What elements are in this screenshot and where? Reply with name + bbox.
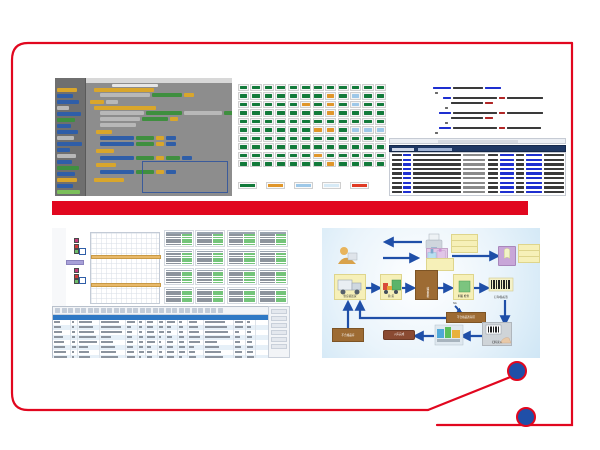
planner-action-button[interactable] [271,344,287,349]
status-cell[interactable] [375,152,386,159]
table-cell-text [159,331,164,333]
table-toolbar-icon[interactable] [133,308,138,313]
console-log-token [413,154,461,156]
table-toolbar-icon[interactable] [120,308,125,313]
status-cell[interactable] [250,84,261,91]
status-cell[interactable] [362,135,373,142]
card-field-label [260,296,275,298]
table-toolbar-icon[interactable] [101,308,106,313]
status-cell[interactable] [375,92,386,99]
planner-info-card[interactable] [227,287,257,304]
status-cell[interactable] [338,126,349,133]
status-cell[interactable] [300,118,311,125]
status-cell[interactable] [375,143,386,150]
table-toolbar-icon[interactable] [153,308,158,313]
table-cell[interactable] [204,355,234,358]
status-cell-fill [327,137,334,141]
planner-gantt-grid[interactable] [90,232,160,304]
table-toolbar-icon[interactable] [159,308,164,313]
planner-action-button[interactable] [271,316,287,321]
status-cell[interactable] [288,109,299,116]
table-cell-text [54,331,62,333]
status-cell[interactable] [288,143,299,150]
status-cell[interactable] [275,135,286,142]
table-toolbar-icon[interactable] [68,308,73,313]
screenshot-production-planner[interactable] [52,228,290,358]
card-field-label [260,260,275,262]
card-field-label [260,274,275,276]
status-cell[interactable] [263,92,274,99]
planner-info-card[interactable] [258,249,288,266]
status-cell[interactable] [362,160,373,167]
card-field-row [229,277,255,279]
console-log-token [488,182,498,184]
card-field-value [182,282,192,284]
status-cell[interactable] [300,143,311,150]
table-toolbar[interactable] [53,307,289,315]
workflow-node-erp-archive[interactable] [498,246,516,266]
status-cell[interactable] [350,109,361,116]
card-field-row [166,258,192,260]
table-toolbar-icon[interactable] [179,308,184,313]
status-cell[interactable] [250,135,261,142]
status-cell[interactable] [313,92,324,99]
status-cell[interactable] [288,160,299,167]
status-cell[interactable] [275,160,286,167]
table-toolbar-icon[interactable] [127,308,132,313]
table-cell-text [147,326,153,328]
card-field-value [244,300,254,302]
gantt-group-label[interactable] [66,260,84,265]
blocks-editor-palette[interactable] [55,78,86,196]
workflow-node-receiving-doc[interactable]: 收货单据 [415,270,438,300]
status-cell[interactable] [275,84,286,91]
card-field-value [182,258,192,260]
table-toolbar-icon[interactable] [55,308,60,313]
table-toolbar-icon[interactable] [88,308,93,313]
status-cell[interactable] [313,109,324,116]
table-toolbar-icon[interactable] [192,308,197,313]
status-cell[interactable] [338,92,349,99]
status-cell[interactable] [250,101,261,108]
table-cell[interactable] [100,355,126,358]
status-cell-fill [339,128,346,132]
status-cell-fill [364,111,371,115]
card-field-value [182,260,192,262]
status-cell[interactable] [338,135,349,142]
console-log-token [392,172,402,174]
card-field-label [260,298,275,300]
card-field-label [229,234,244,236]
workflow-node-label: 打印/贴标签 [494,297,508,300]
card-field-label [166,256,181,258]
planner-data-table[interactable] [52,306,290,358]
screenshot-ide-code-console[interactable] [389,84,566,196]
status-cell[interactable] [300,160,311,167]
status-cell-fill [339,86,346,90]
status-cell[interactable] [325,160,336,167]
table-cell-text [159,321,163,323]
status-cell[interactable] [350,84,361,91]
card-field-label [166,296,181,298]
status-cell[interactable] [263,84,274,91]
card-field-value [276,244,286,246]
screenshot-blocks-editor[interactable] [55,78,232,196]
status-cell[interactable] [325,84,336,91]
status-cell[interactable] [288,126,299,133]
status-cell-fill [314,145,321,149]
blocks-editor-canvas[interactable] [86,83,232,196]
card-header [197,232,223,234]
status-cell[interactable] [313,101,324,108]
table-cell[interactable] [78,355,100,358]
status-cell[interactable] [350,126,361,133]
workflow-node-supplier-delivery[interactable]: 供应商送货 [334,274,366,300]
console-log-token [403,159,411,161]
status-cell-fill [240,128,247,132]
table-cell[interactable] [246,355,256,358]
red-divider-bar [52,201,528,215]
status-cell[interactable] [375,160,386,167]
table-toolbar-icon[interactable] [81,308,86,313]
workflow-node-label-print[interactable]: 打印/贴标签 [488,274,514,300]
workflow-node-reject-store[interactable]: 不合格品库 [332,328,364,342]
status-cell[interactable] [288,118,299,125]
table-toolbar-icon[interactable] [75,308,80,313]
table-cell[interactable] [158,355,166,358]
table-toolbar-icon[interactable] [218,308,223,313]
planner-info-cards[interactable] [164,230,288,304]
status-cell[interactable] [300,152,311,159]
status-cell[interactable] [325,101,336,108]
table-cell[interactable] [138,355,146,358]
status-cell[interactable] [350,101,361,108]
status-cell[interactable] [300,84,311,91]
status-cell[interactable] [338,109,349,116]
console-log-list[interactable] [389,152,566,196]
console-log-token [500,186,514,188]
status-cell[interactable] [300,135,311,142]
gantt-node-selected[interactable] [79,277,86,284]
card-field-value [276,241,286,243]
console-log-token [403,168,411,170]
planner-action-buttons[interactable] [268,306,290,358]
ide-toolbar[interactable] [389,138,566,144]
planner-info-card[interactable] [164,249,194,266]
table-cell-text [101,356,118,358]
status-cell[interactable] [338,118,349,125]
status-cell[interactable] [300,92,311,99]
planner-info-card[interactable] [227,249,257,266]
status-cell[interactable] [238,135,249,142]
status-cell[interactable] [263,126,274,133]
card-field-label [229,298,244,300]
planner-upper-area[interactable] [52,228,290,306]
card-field-row [197,237,223,239]
status-cell[interactable] [288,92,299,99]
table-cell-text [139,321,142,323]
gantt-node-selected[interactable] [79,248,86,255]
console-log-token [413,159,461,161]
card-field-row [260,253,286,255]
workflow-node-label: 料箱 检查 [458,296,469,299]
status-cell[interactable] [325,118,336,125]
console-log-token [463,182,485,184]
table-toolbar-icon[interactable] [146,308,151,313]
status-cell[interactable] [362,109,373,116]
status-cell[interactable] [263,118,274,125]
planner-info-card[interactable] [227,268,257,285]
workflow-node-inbound-done[interactable]: 入库完成 [383,330,415,340]
table-cell-text [139,356,141,358]
status-cell[interactable] [313,84,324,91]
console-log-row[interactable] [390,190,565,195]
table-toolbar-icon[interactable] [166,308,171,313]
card-header [229,270,255,272]
table-cell[interactable] [71,355,78,358]
status-cell[interactable] [275,109,286,116]
table-cell[interactable] [234,355,246,358]
status-cell[interactable] [250,118,261,125]
card-field-value [276,260,286,262]
status-grid-cells[interactable] [238,84,386,167]
gantt-node-marker[interactable] [74,268,79,273]
status-cell[interactable] [325,109,336,116]
table-cell-text [79,356,90,358]
screenshot-status-grid[interactable] [236,82,388,199]
workflow-node-quality-check[interactable]: 料箱 检查 [453,274,474,300]
status-cell[interactable] [325,135,336,142]
status-cell-fill [265,94,272,98]
status-cell[interactable] [350,143,361,150]
workflow-node-inspection[interactable]: 验 货 [380,274,402,300]
status-cell[interactable] [338,84,349,91]
planner-info-card[interactable] [227,230,257,247]
card-field-value [213,241,223,243]
table-toolbar-icon[interactable] [62,308,67,313]
table-cell[interactable] [146,355,158,358]
status-cell[interactable] [238,92,249,99]
table-body[interactable] [53,320,289,358]
status-cell[interactable] [338,101,349,108]
table-cell[interactable] [53,355,71,358]
planner-info-card[interactable] [258,287,288,304]
status-cell[interactable] [275,126,286,133]
status-cell[interactable] [362,84,373,91]
status-cell-fill [339,154,346,158]
status-cell[interactable] [362,143,373,150]
table-row[interactable] [53,355,289,358]
status-cell-fill [314,86,321,90]
code-editor-area[interactable] [389,84,566,136]
table-toolbar-icon[interactable] [211,308,216,313]
planner-info-card[interactable] [164,230,194,247]
card-field-row [197,234,223,236]
card-field-label [197,260,212,262]
table-toolbar-icon[interactable] [205,308,210,313]
status-cell[interactable] [238,118,249,125]
status-cell[interactable] [350,118,361,125]
table-toolbar-icon[interactable] [114,308,119,313]
status-cell[interactable] [275,118,286,125]
status-cell[interactable] [263,160,274,167]
status-cell[interactable] [250,152,261,159]
status-cell[interactable] [250,160,261,167]
planner-action-button[interactable] [271,337,287,342]
status-cell-fill [364,94,371,98]
decorative-red-frame [0,0,600,450]
status-cell[interactable] [275,143,286,150]
status-cell[interactable] [375,109,386,116]
status-cell[interactable] [375,101,386,108]
status-cell[interactable] [313,135,324,142]
table-cell[interactable] [166,355,178,358]
status-cell[interactable] [250,92,261,99]
status-cell[interactable] [238,160,249,167]
planner-action-button[interactable] [271,323,287,328]
status-cell-fill [339,111,346,115]
status-cell[interactable] [313,143,324,150]
status-cell[interactable] [338,143,349,150]
planner-info-card[interactable] [164,287,194,304]
planner-info-card[interactable] [258,230,288,247]
status-cell[interactable] [263,143,274,150]
planner-sidebar[interactable] [52,228,66,306]
planner-action-button[interactable] [271,309,287,314]
status-cell[interactable] [313,152,324,159]
status-cell[interactable] [263,101,274,108]
status-cell[interactable] [375,126,386,133]
status-cell[interactable] [250,143,261,150]
planner-info-card[interactable] [195,230,225,247]
card-field-label [229,279,244,281]
card-field-value [276,274,286,276]
status-cell[interactable] [238,84,249,91]
card-field-row [197,274,223,276]
status-cell[interactable] [275,101,286,108]
workflow-node-reject-area[interactable]: 不合格品暂存区 [446,312,486,323]
planner-info-card[interactable] [195,268,225,285]
status-cell[interactable] [313,118,324,125]
status-cell[interactable] [238,143,249,150]
planner-info-card[interactable] [164,268,194,285]
status-cell[interactable] [362,92,373,99]
status-cell[interactable] [238,126,249,133]
status-cell[interactable] [263,109,274,116]
workflow-node-shelf-putaway[interactable] [434,324,464,348]
status-cell[interactable] [313,160,324,167]
status-cell[interactable] [350,152,361,159]
table-cell-text [79,341,97,343]
status-cell[interactable] [275,92,286,99]
status-cell[interactable] [263,152,274,159]
card-field-row [197,239,223,241]
table-toolbar-icon[interactable] [107,308,112,313]
workflow-node-clerk[interactable] [334,244,360,266]
workflow-node-scan-in[interactable]: 扫码录入 [482,322,512,346]
table-cell-text [139,336,143,338]
status-cell[interactable] [362,126,373,133]
status-cell[interactable] [362,101,373,108]
console-titlebar[interactable] [389,145,566,152]
card-field-value [213,296,223,298]
status-cell[interactable] [288,135,299,142]
status-cell[interactable] [325,126,336,133]
table-cell-text [167,331,171,333]
status-cell[interactable] [250,109,261,116]
card-field-row [197,282,223,284]
table-toolbar-icon[interactable] [185,308,190,313]
status-cell[interactable] [313,126,324,133]
status-cell[interactable] [238,152,249,159]
card-field-value [213,263,223,265]
planner-info-card[interactable] [195,249,225,266]
status-cell[interactable] [362,152,373,159]
status-cell[interactable] [275,152,286,159]
table-cell[interactable] [178,355,188,358]
card-field-label [197,244,212,246]
status-cell-fill [327,128,334,132]
status-cell[interactable] [300,101,311,108]
status-cell[interactable] [375,135,386,142]
status-cell[interactable] [238,109,249,116]
table-toolbar-icon[interactable] [94,308,99,313]
card-field-label [166,234,181,236]
table-cell[interactable] [188,355,204,358]
planner-info-card[interactable] [195,287,225,304]
status-cell[interactable] [375,118,386,125]
status-cell[interactable] [338,160,349,167]
status-cell[interactable] [325,152,336,159]
card-field-row [166,253,192,255]
status-cell[interactable] [350,92,361,99]
status-cell[interactable] [325,92,336,99]
console-log-token [500,154,514,156]
status-cell[interactable] [263,135,274,142]
gantt-node-marker[interactable] [74,238,79,243]
card-field-label [229,263,244,265]
table-cell[interactable] [126,355,138,358]
card-field-row [229,279,255,281]
table-toolbar-icon[interactable] [198,308,203,313]
status-cell[interactable] [288,101,299,108]
planner-info-card[interactable] [258,268,288,285]
status-cell[interactable] [325,143,336,150]
card-field-label [229,296,244,298]
status-cell[interactable] [300,109,311,116]
status-cell[interactable] [238,101,249,108]
status-cell[interactable] [288,152,299,159]
card-header [166,232,192,234]
status-cell[interactable] [362,118,373,125]
workflow-node-label: 不合格品暂存区 [457,317,475,320]
status-cell[interactable] [300,126,311,133]
status-cell[interactable] [338,152,349,159]
table-toolbar-icon[interactable] [172,308,177,313]
planner-action-button[interactable] [271,330,287,335]
card-field-value [213,237,223,239]
card-field-value [182,296,192,298]
status-cell[interactable] [375,84,386,91]
screenshot-warehouse-workflow[interactable]: 供应商送货 验 货 收货单据 料箱 检查 打印/贴标签 不合格品暂存区 不合格品… [322,228,540,358]
status-cell[interactable] [350,160,361,167]
status-cell[interactable] [250,126,261,133]
console-log-token [463,186,485,188]
table-toolbar-icon[interactable] [140,308,145,313]
status-cell[interactable] [288,84,299,91]
status-cell[interactable] [350,135,361,142]
status-cell-fill [252,154,259,158]
